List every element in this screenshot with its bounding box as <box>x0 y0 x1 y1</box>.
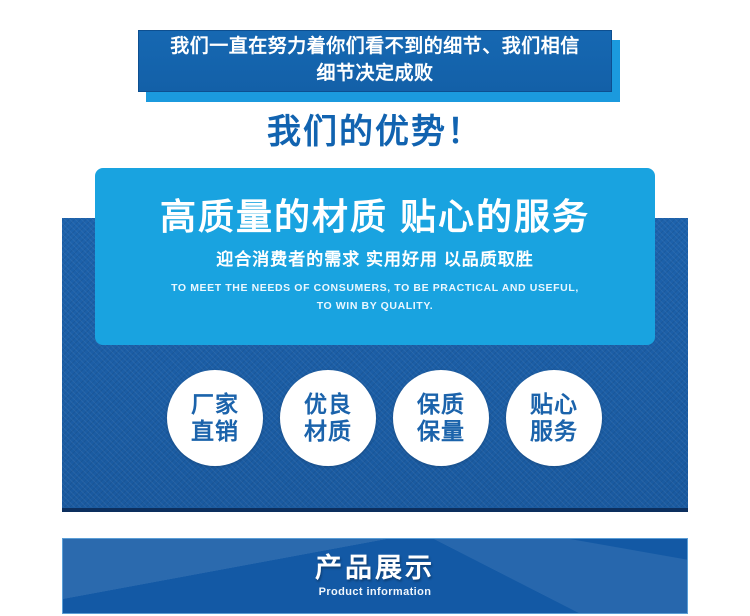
product-banner-subtitle: Product information <box>319 586 432 598</box>
product-banner-title: 产品展示 <box>315 554 435 584</box>
headline-banner-box: 我们一直在努力着你们看不到的细节、我们相信 细节决定成败 <box>138 30 612 92</box>
dark-panel-bottom-rule <box>62 508 688 512</box>
feature-circle: 保质 保量 <box>393 370 489 466</box>
advantage-english-caption: TO MEET THE NEEDS OF CONSUMERS, TO BE PR… <box>171 280 579 316</box>
feature-circle: 贴心 服务 <box>506 370 602 466</box>
product-section-banner: 产品展示 Product information <box>62 538 688 614</box>
headline-text: 我们一直在努力着你们看不到的细节、我们相信 细节决定成败 <box>162 34 588 88</box>
feature-circle: 厂家 直销 <box>167 370 263 466</box>
headline-banner: 我们一直在努力着你们看不到的细节、我们相信 细节决定成败 <box>138 30 612 92</box>
section-title: 我们的优势！ <box>0 104 750 153</box>
advantage-subhead: 迎合消费者的需求 实用好用 以品质取胜 <box>216 245 533 270</box>
product-banner-content: 产品展示 Product information <box>63 539 687 613</box>
feature-circle: 优良 材质 <box>280 370 376 466</box>
feature-circle-group: 厂家 直销 优良 材质 保质 保量 贴心 服务 <box>167 370 601 468</box>
advantage-headline: 高质量的材质 贴心的服务 <box>160 197 590 237</box>
feature-circle-label: 厂家 直销 <box>191 391 239 444</box>
promo-page: 我们一直在努力着你们看不到的细节、我们相信 细节决定成败 我们的优势！ 高质量的… <box>0 0 750 616</box>
feature-circle-label: 贴心 服务 <box>530 391 578 444</box>
advantage-highlight-panel: 高质量的材质 贴心的服务 迎合消费者的需求 实用好用 以品质取胜 TO MEET… <box>95 168 655 345</box>
feature-circle-label: 保质 保量 <box>417 391 465 444</box>
feature-circle-label: 优良 材质 <box>304 391 352 444</box>
